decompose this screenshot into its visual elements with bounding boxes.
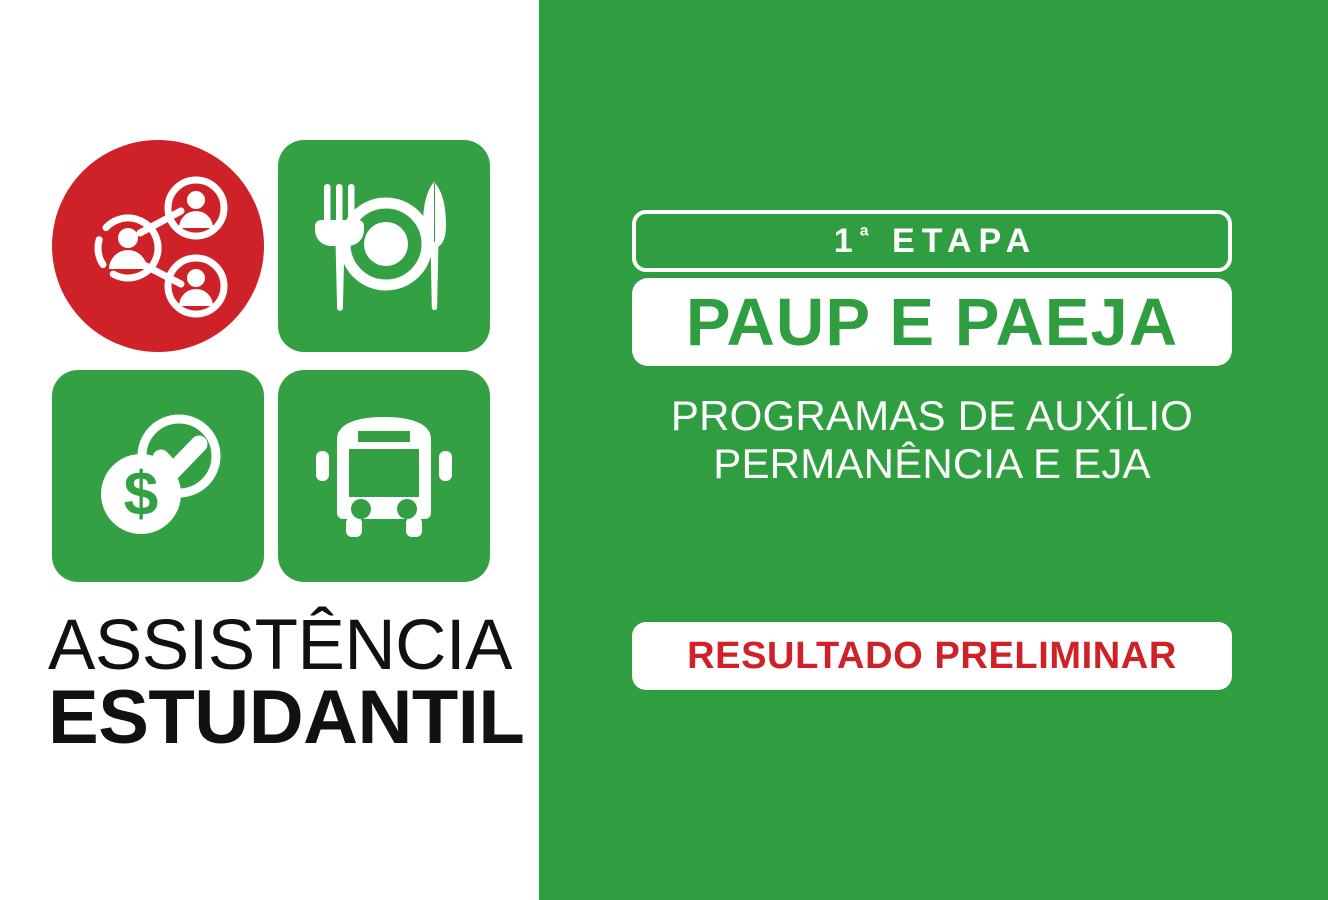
program-subtitle: PROGRAMAS DE AUXÍLIO PERMANÊNCIA E EJA	[632, 392, 1232, 489]
assistencia-estudantil-logo: $	[0, 0, 539, 900]
meal-tile	[278, 140, 490, 352]
icon-tile-grid: $	[52, 140, 490, 582]
wordmark-line-estudantil: ESTUDANTIL	[48, 682, 518, 755]
headline-stack: 1ª ETAPA PAUP E PAEJA	[632, 210, 1232, 366]
money-check-icon: $	[83, 401, 233, 551]
stage-badge: 1ª ETAPA	[632, 210, 1232, 272]
network-icon	[83, 171, 233, 321]
result-status-label: RESULTADO PRELIMINAR	[687, 635, 1177, 678]
stage-word: ETAPA	[892, 222, 1037, 260]
network-tile	[52, 140, 264, 352]
wordmark-line-assistencia: ASSISTÊNCIA	[48, 612, 518, 680]
bus-icon	[313, 405, 455, 547]
subtitle-line-2: PERMANÊNCIA E EJA	[632, 440, 1232, 488]
subtitle-line-1: PROGRAMAS DE AUXÍLIO	[632, 392, 1232, 440]
logo-wordmark: ASSISTÊNCIA ESTUDANTIL	[48, 612, 518, 755]
stage-number: 1	[834, 222, 860, 260]
stage-ordinal-mark: ª	[860, 223, 876, 250]
program-title: PAUP E PAEJA	[686, 289, 1178, 356]
meal-icon	[310, 172, 458, 320]
poster-canvas: $	[0, 0, 1328, 900]
bus-tile	[278, 370, 490, 582]
svg-text:$: $	[124, 460, 158, 529]
program-title-box: PAUP E PAEJA	[632, 278, 1232, 366]
stage-badge-label: 1ª ETAPA	[827, 222, 1037, 261]
result-status-badge: RESULTADO PRELIMINAR	[632, 622, 1232, 690]
money-tile: $	[52, 370, 264, 582]
